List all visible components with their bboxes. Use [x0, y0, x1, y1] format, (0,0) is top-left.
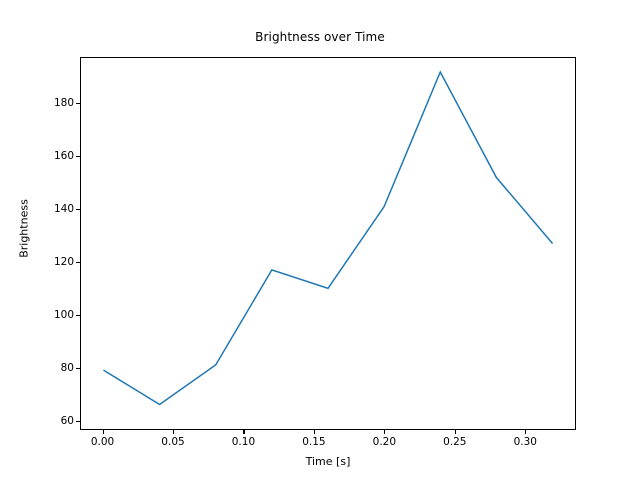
x-tick-label: 0.25: [415, 436, 495, 448]
x-tick-mark: [314, 430, 315, 434]
brightness-line-series: [103, 72, 552, 404]
matplotlib-figure: Brightness over Time Brightness 60801001…: [0, 0, 640, 480]
x-tick-label: 0.20: [344, 436, 424, 448]
y-tick-label: 120: [14, 256, 74, 268]
x-tick-label: 0.05: [133, 436, 213, 448]
plot-canvas: [81, 58, 575, 429]
plot-axes: [80, 57, 576, 430]
y-axis-tick-labels: 6080100120140160180: [10, 0, 74, 480]
y-tick-label: 180: [14, 97, 74, 109]
x-tick-mark: [243, 430, 244, 434]
x-tick-mark: [103, 430, 104, 434]
y-tick-label: 100: [14, 309, 74, 321]
x-tick-label: 0.15: [274, 436, 354, 448]
x-axis-label: Time [s]: [80, 455, 576, 468]
x-tick-mark: [525, 430, 526, 434]
y-tick-label: 80: [14, 362, 74, 374]
x-tick-mark: [384, 430, 385, 434]
y-tick-label: 60: [14, 415, 74, 427]
x-tick-label: 0.30: [485, 436, 565, 448]
x-tick-label: 0.10: [203, 436, 283, 448]
y-tick-label: 140: [14, 203, 74, 215]
x-tick-label: 0.00: [63, 436, 143, 448]
x-tick-mark: [173, 430, 174, 434]
x-tick-mark: [455, 430, 456, 434]
chart-title: Brightness over Time: [0, 30, 640, 44]
y-tick-label: 160: [14, 150, 74, 162]
